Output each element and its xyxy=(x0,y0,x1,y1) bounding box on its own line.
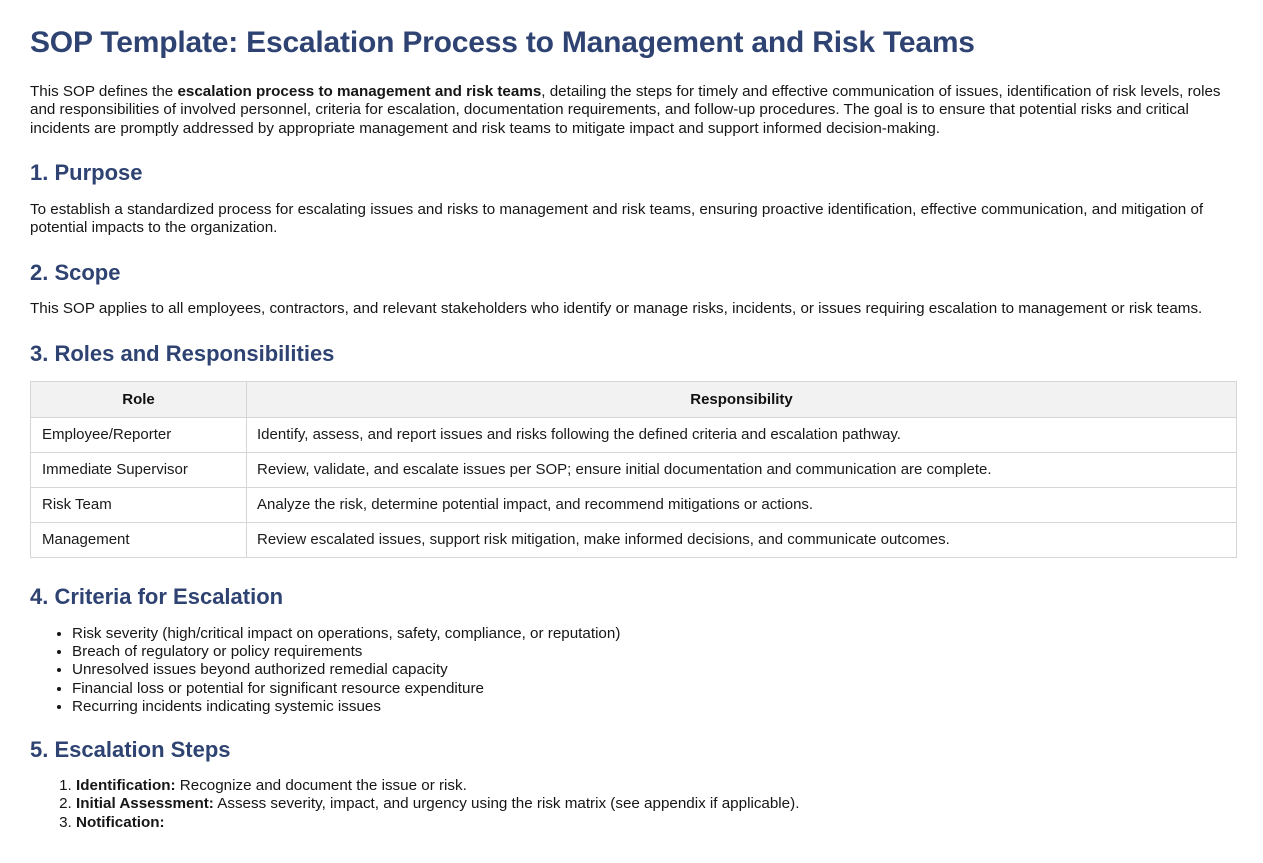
list-item: Financial loss or potential for signific… xyxy=(72,680,1236,698)
section-heading-purpose: 1. Purpose xyxy=(30,160,1236,186)
scope-body: This SOP applies to all employees, contr… xyxy=(30,300,1220,319)
page-title: SOP Template: Escalation Process to Mana… xyxy=(30,26,1236,61)
table-row: Immediate Supervisor Review, validate, a… xyxy=(31,453,1237,488)
section-purpose: 1. Purpose To establish a standardized p… xyxy=(30,160,1236,238)
list-item: Notification: xyxy=(76,814,1236,832)
criteria-list: Risk severity (high/critical impact on o… xyxy=(30,625,1236,717)
section-criteria: 4. Criteria for Escalation Risk severity… xyxy=(30,584,1236,716)
step-text: Assess severity, impact, and urgency usi… xyxy=(214,795,800,812)
cell-role: Management xyxy=(31,523,247,558)
section-escalation-steps: 5. Escalation Steps Identification: Reco… xyxy=(30,737,1236,833)
table-row: Risk Team Analyze the risk, determine po… xyxy=(31,488,1237,523)
cell-responsibility: Review, validate, and escalate issues pe… xyxy=(247,453,1237,488)
step-label: Notification: xyxy=(76,814,165,831)
cell-responsibility: Identify, assess, and report issues and … xyxy=(247,418,1237,453)
list-item: Identification: Recognize and document t… xyxy=(76,777,1236,795)
step-text: Recognize and document the issue or risk… xyxy=(176,777,467,794)
list-item: Initial Assessment: Assess severity, imp… xyxy=(76,795,1236,813)
section-scope: 2. Scope This SOP applies to all employe… xyxy=(30,260,1236,319)
purpose-body: To establish a standardized process for … xyxy=(30,201,1220,238)
intro-bold-phrase: escalation process to management and ris… xyxy=(177,83,541,100)
step-label: Initial Assessment: xyxy=(76,795,214,812)
cell-responsibility: Review escalated issues, support risk mi… xyxy=(247,523,1237,558)
section-heading-scope: 2. Scope xyxy=(30,260,1236,286)
column-header-role: Role xyxy=(31,382,247,418)
intro-paragraph: This SOP defines the escalation process … xyxy=(30,83,1226,139)
cell-role: Immediate Supervisor xyxy=(31,453,247,488)
section-heading-criteria: 4. Criteria for Escalation xyxy=(30,584,1236,610)
intro-text-part1: This SOP defines the xyxy=(30,83,177,100)
table-row: Employee/Reporter Identify, assess, and … xyxy=(31,418,1237,453)
escalation-steps-list: Identification: Recognize and document t… xyxy=(30,777,1236,832)
table-row: Management Review escalated issues, supp… xyxy=(31,523,1237,558)
step-label: Identification: xyxy=(76,777,176,794)
list-item: Breach of regulatory or policy requireme… xyxy=(72,643,1236,661)
list-item: Risk severity (high/critical impact on o… xyxy=(72,625,1236,643)
column-header-responsibility: Responsibility xyxy=(247,382,1237,418)
cell-role: Risk Team xyxy=(31,488,247,523)
table-header-row: Role Responsibility xyxy=(31,382,1237,418)
cell-role: Employee/Reporter xyxy=(31,418,247,453)
list-item: Recurring incidents indicating systemic … xyxy=(72,698,1236,716)
section-heading-roles: 3. Roles and Responsibilities xyxy=(30,341,1236,367)
section-roles: 3. Roles and Responsibilities Role Respo… xyxy=(30,341,1236,558)
section-heading-steps: 5. Escalation Steps xyxy=(30,737,1236,763)
table-body: Employee/Reporter Identify, assess, and … xyxy=(31,418,1237,558)
list-item: Unresolved issues beyond authorized reme… xyxy=(72,661,1236,679)
document-page: SOP Template: Escalation Process to Mana… xyxy=(0,0,1263,863)
roles-responsibilities-table: Role Responsibility Employee/Reporter Id… xyxy=(30,381,1237,558)
table-header: Role Responsibility xyxy=(31,382,1237,418)
cell-responsibility: Analyze the risk, determine potential im… xyxy=(247,488,1237,523)
